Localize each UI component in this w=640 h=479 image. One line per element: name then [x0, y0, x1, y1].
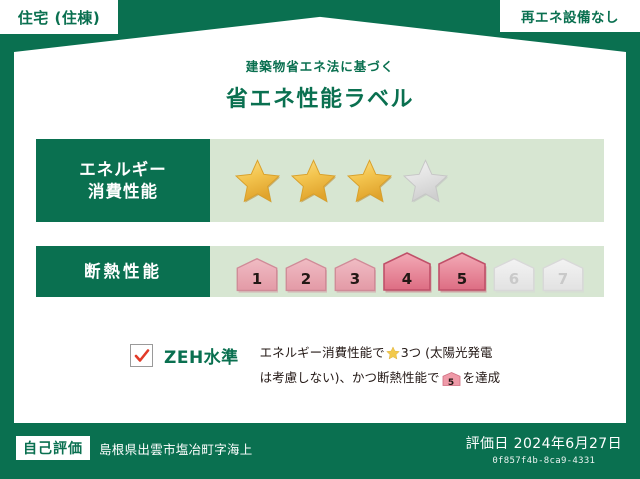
zeh-desc-line2-a: は考慮しない)、かつ断熱性能で: [260, 370, 440, 385]
row-energy-label: エネルギー 消費性能: [36, 139, 210, 222]
property-address: 島根県出雲市塩冶町字海上: [99, 439, 253, 458]
evaluation-date: 評価日 2024年6月27日: [466, 433, 622, 453]
star-filled-icon: [234, 158, 281, 204]
zeh-standard-label: ZEH水準: [164, 343, 239, 368]
badge-renewable-energy-label: 再エネ設備なし: [521, 6, 619, 26]
row-energy-label-line1: エネルギー: [79, 159, 167, 180]
insulation-level-scale: 1234567: [234, 251, 586, 293]
insulation-level-number: 3: [332, 270, 378, 288]
inline-house-badge: 5: [442, 371, 461, 393]
zeh-desc-line2-b: を達成: [463, 370, 501, 385]
check-icon: [134, 348, 150, 364]
title-block: 建築物省エネ法に基づく 省エネ性能ラベル: [0, 56, 640, 113]
zeh-description: エネルギー消費性能で 3つ (太陽光発電 は考慮しない)、かつ断熱性能で 5 を…: [260, 342, 500, 393]
row-insulation-value: 1234567: [210, 246, 604, 297]
footer: 自己評価 島根県出雲市塩冶町字海上 評価日 2024年6月27日 0f857f4…: [0, 423, 640, 479]
row-energy-performance: エネルギー 消費性能: [36, 139, 604, 222]
star-rating: [234, 158, 449, 204]
inline-star-icon: [386, 345, 400, 367]
insulation-level-3: 3: [332, 257, 378, 293]
insulation-level-4: 4: [381, 251, 433, 293]
zeh-desc-line1-b: 3つ (太陽光発電: [401, 345, 493, 360]
inline-house-number: 5: [442, 376, 461, 392]
insulation-level-1: 1: [234, 257, 280, 293]
insulation-level-number: 7: [540, 270, 586, 288]
insulation-level-7: 7: [540, 257, 586, 293]
zeh-checkbox[interactable]: [130, 344, 153, 367]
row-insulation-label-line1: 断熱性能: [84, 261, 162, 282]
zeh-block: ZEH水準 エネルギー消費性能で 3つ (太陽光発電 は考慮しない)、かつ断熱性…: [130, 342, 500, 393]
zeh-desc-line1-a: エネルギー消費性能で: [260, 345, 385, 360]
insulation-level-number: 6: [491, 270, 537, 288]
energy-label-root: 住宅 (住棟) 再エネ設備なし 建築物省エネ法に基づく 省エネ性能ラベル エネル…: [0, 0, 640, 479]
star-empty-icon: [402, 158, 449, 204]
zeh-description-line2: は考慮しない)、かつ断熱性能で 5 を達成: [260, 367, 500, 393]
badge-building-type: 住宅 (住棟): [0, 0, 118, 34]
insulation-level-6: 6: [491, 257, 537, 293]
row-insulation-performance: 断熱性能 1234567: [36, 246, 604, 297]
star-filled-icon: [346, 158, 393, 204]
star-filled-icon: [290, 158, 337, 204]
footer-left: 自己評価 島根県出雲市塩冶町字海上: [16, 436, 253, 460]
insulation-level-number: 1: [234, 270, 280, 288]
evaluation-id: 0f857f4b-8ca9-4331: [466, 456, 622, 466]
zeh-description-line1: エネルギー消費性能で 3つ (太陽光発電: [260, 342, 500, 367]
insulation-level-number: 4: [381, 270, 433, 288]
page-title: 省エネ性能ラベル: [0, 81, 640, 113]
row-insulation-label: 断熱性能: [36, 246, 210, 297]
insulation-level-2: 2: [283, 257, 329, 293]
insulation-level-5: 5: [436, 251, 488, 293]
badge-renewable-energy: 再エネ設備なし: [500, 0, 640, 32]
row-energy-value: [210, 139, 604, 222]
row-energy-label-line2: 消費性能: [88, 181, 158, 202]
footer-right: 評価日 2024年6月27日 0f857f4b-8ca9-4331: [466, 433, 622, 466]
evaluation-type-badge: 自己評価: [16, 436, 90, 460]
insulation-level-number: 5: [436, 270, 488, 288]
insulation-level-number: 2: [283, 270, 329, 288]
title-subtitle: 建築物省エネ法に基づく: [0, 56, 640, 75]
badge-building-type-label: 住宅 (住棟): [18, 7, 100, 28]
